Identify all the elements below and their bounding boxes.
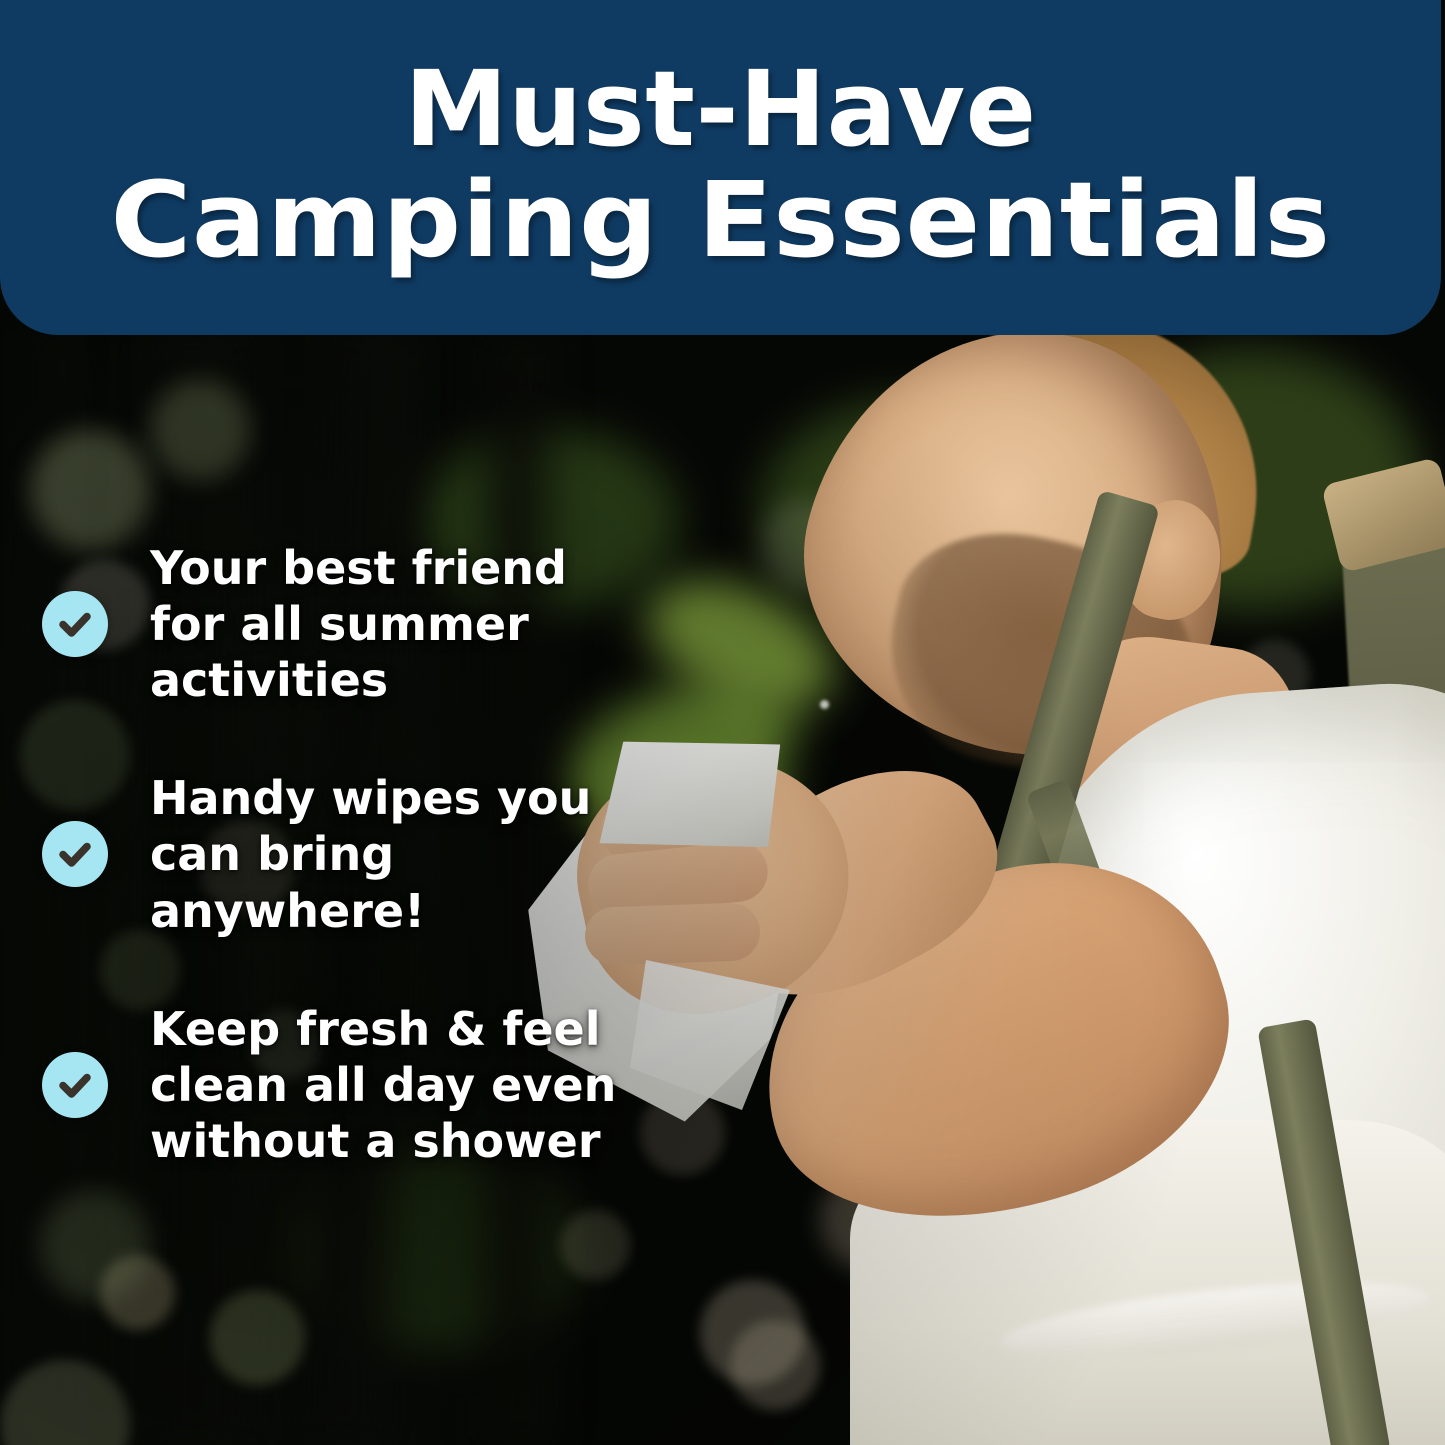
check-circle-icon [42,591,108,657]
feature-text: Keep fresh & feel clean all day even wit… [150,1001,700,1169]
page-title-line-2: Camping Essentials [110,167,1330,273]
bokeh-circle [30,430,150,550]
feature-item: Your best friend for all summer activiti… [0,540,700,708]
check-circle-icon [42,821,108,887]
page-title-line-1: Must-Have [404,56,1036,162]
header-banner: Must-Have Camping Essentials [0,0,1441,335]
product-lifestyle-image: Must-Have Camping Essentials Your best f… [0,0,1445,1445]
bokeh-circle [100,1255,175,1330]
check-icon-wrapper [0,821,150,887]
check-icon-wrapper [0,591,150,657]
feature-text: Your best friend for all summer activiti… [150,540,650,708]
check-circle-icon [42,1052,108,1118]
feature-item: Handy wipes you can bring anywhere! [0,770,700,938]
check-icon-wrapper [0,1052,150,1118]
bokeh-circle [150,380,250,480]
bokeh-circle [210,1290,305,1385]
bokeh-speck [820,700,829,709]
feature-text: Handy wipes you can bring anywhere! [150,770,650,938]
feature-list: Your best friend for all summer activiti… [0,540,700,1231]
feature-item: Keep fresh & feel clean all day even wit… [0,1001,700,1169]
bokeh-circle [730,1320,820,1410]
